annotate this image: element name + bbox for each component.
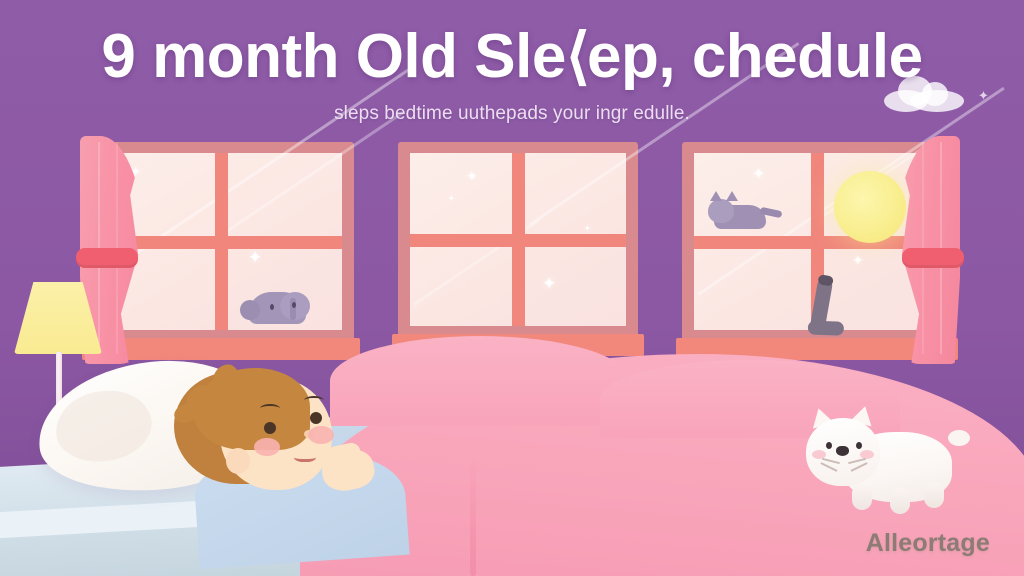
child-ear [226, 448, 250, 474]
illustration-canvas: 9 month Old Sle⟨ep, chedule sleps bedtim… [0, 0, 1024, 576]
child-eye [264, 422, 276, 434]
plush-tail [948, 430, 970, 446]
plush-eye [826, 442, 832, 449]
child-cheek [254, 438, 280, 456]
plush-leg [852, 484, 872, 510]
window-mullion-horizontal [410, 234, 626, 247]
plush-eye [856, 442, 862, 449]
sparkle-icon: ✦ [448, 195, 455, 203]
child-mouth [294, 450, 316, 462]
page-title-glitch-glyph: ⟨ [566, 22, 587, 91]
sparkle-icon: ✦ [752, 167, 765, 183]
sparkle-icon: ✦ [542, 275, 556, 292]
page-subtitle: sleps bedtime uuthepads your ingr edulle… [0, 103, 1024, 125]
page-title: 9 month Old Sle⟨ep, chedule [0, 24, 1024, 89]
plush-nose [836, 446, 849, 456]
elephant-plush-icon [248, 292, 306, 324]
white-cat-plush [806, 414, 966, 524]
cat-plush-icon [714, 205, 766, 229]
child-eyebrow [304, 396, 324, 405]
lamp-shade [14, 282, 102, 354]
child-hair-top [194, 368, 310, 450]
sparkle-icon: ✦ [852, 253, 864, 267]
page-title-before: 9 month Old Sle [101, 22, 565, 91]
watermark: Alleortage [866, 529, 990, 558]
child-cheek [308, 426, 334, 444]
window-center: ✦ ✦ ✦ ✦ [398, 142, 638, 342]
window-glass: ✦ ✦ [694, 153, 940, 330]
blanket-crease [470, 456, 476, 576]
sparkle-icon: ✦ [466, 169, 478, 183]
window-left: ✦ ✦ ✦ [88, 142, 354, 346]
title-block: 9 month Old Sle⟨ep, chedule sleps bedtim… [0, 24, 1024, 125]
curtain-tieback-left [76, 248, 138, 268]
child-eyebrow [260, 404, 280, 413]
curtain-tieback-right [902, 248, 964, 268]
moon-icon [834, 171, 906, 243]
window-right: ✦ ✦ [682, 142, 952, 346]
child-eye [310, 412, 322, 424]
sparkle-icon: ✦ [248, 249, 262, 266]
plush-leg [924, 482, 944, 508]
floor-lamp [14, 282, 102, 354]
sparkle-icon: ✦ [584, 225, 591, 233]
window-glass: ✦ ✦ ✦ ✦ [410, 153, 626, 326]
plush-leg [890, 488, 910, 514]
page-title-after: ep, chedule [587, 22, 923, 91]
